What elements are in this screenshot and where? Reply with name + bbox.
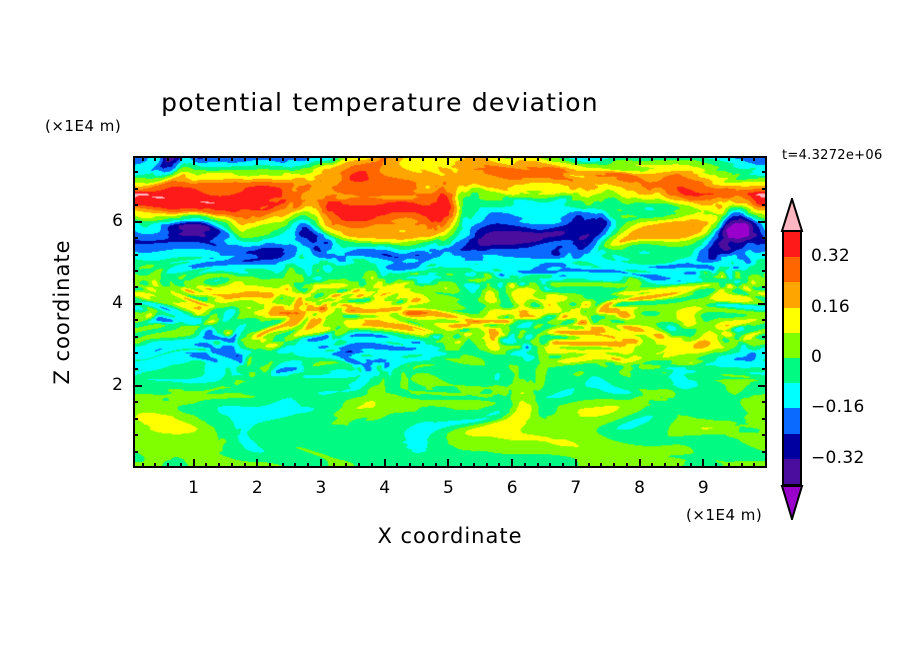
x-tick-minor bbox=[167, 156, 169, 161]
z-tick-minor bbox=[133, 286, 138, 288]
z-tick-major bbox=[133, 221, 142, 223]
x-tick-minor bbox=[358, 156, 360, 161]
contour-field-canvas bbox=[135, 158, 765, 466]
z-ticklabel: 4 bbox=[93, 293, 123, 313]
x-tick-minor bbox=[613, 463, 615, 468]
x-tick-minor bbox=[231, 156, 233, 161]
x-ticklabel: 5 bbox=[428, 478, 468, 498]
x-tick-minor bbox=[677, 156, 679, 161]
colorbar-band bbox=[782, 333, 802, 360]
z-tick-minor bbox=[133, 270, 138, 272]
x-tick-major bbox=[511, 156, 513, 165]
x-tick-minor bbox=[269, 463, 271, 468]
x-tick-minor bbox=[294, 156, 296, 161]
x-tick-minor bbox=[180, 463, 182, 468]
colorbar-ticklabel: −0.16 bbox=[811, 397, 865, 417]
x-tick-major bbox=[193, 459, 195, 468]
page-title: potential temperature deviation bbox=[0, 88, 760, 117]
x-tick-minor bbox=[498, 156, 500, 161]
colorbar-cap-under bbox=[779, 484, 805, 518]
x-tick-minor bbox=[154, 156, 156, 161]
x-tick-major bbox=[193, 156, 195, 165]
x-tick-minor bbox=[409, 156, 411, 161]
x-ticklabel: 2 bbox=[237, 478, 277, 498]
x-tick-minor bbox=[435, 463, 437, 468]
x-tick-major bbox=[384, 459, 386, 468]
x-tick-minor bbox=[307, 156, 309, 161]
z-tick-minor bbox=[133, 171, 138, 173]
x-tick-minor bbox=[486, 463, 488, 468]
z-tick-minor bbox=[762, 401, 767, 403]
x-tick-major bbox=[575, 459, 577, 468]
z-tick-minor bbox=[762, 336, 767, 338]
colorbar-band bbox=[782, 282, 802, 309]
x-tick-minor bbox=[142, 463, 144, 468]
x-tick-minor bbox=[167, 463, 169, 468]
x-tick-minor bbox=[753, 463, 755, 468]
z-tick-major bbox=[133, 303, 142, 305]
z-tick-minor bbox=[762, 204, 767, 206]
z-tick-minor bbox=[133, 352, 138, 354]
x-tick-minor bbox=[588, 463, 590, 468]
z-tick-minor bbox=[762, 171, 767, 173]
x-tick-major bbox=[702, 156, 704, 165]
z-tick-minor bbox=[762, 319, 767, 321]
x-tick-minor bbox=[422, 156, 424, 161]
timestamp-annotation: t=4.3272e+06 bbox=[782, 148, 883, 163]
x-tick-minor bbox=[562, 156, 564, 161]
x-tick-minor bbox=[231, 463, 233, 468]
x-tick-minor bbox=[333, 463, 335, 468]
colorbar: 0.320.160−0.16−0.32 bbox=[779, 198, 805, 518]
x-tick-minor bbox=[626, 463, 628, 468]
z-tick-minor bbox=[762, 270, 767, 272]
x-tick-minor bbox=[524, 156, 526, 161]
z-tick-major bbox=[758, 303, 767, 305]
colorbar-band bbox=[782, 358, 802, 385]
x-tick-minor bbox=[307, 463, 309, 468]
x-tick-minor bbox=[244, 156, 246, 161]
x-tick-minor bbox=[741, 156, 743, 161]
x-tick-major bbox=[447, 156, 449, 165]
x-tick-minor bbox=[154, 463, 156, 468]
x-ticklabel: 4 bbox=[365, 478, 405, 498]
x-tick-minor bbox=[741, 463, 743, 468]
x-tick-minor bbox=[562, 463, 564, 468]
x-tick-minor bbox=[498, 463, 500, 468]
x-tick-minor bbox=[626, 156, 628, 161]
colorbar-cap-over bbox=[779, 198, 805, 232]
x-tick-major bbox=[702, 459, 704, 468]
x-ticklabel: 7 bbox=[556, 478, 596, 498]
x-ticklabel: 9 bbox=[683, 478, 723, 498]
z-axis-title: Z coordinate bbox=[50, 212, 74, 412]
x-axis-units: (×1E4 m) bbox=[686, 506, 762, 524]
x-tick-minor bbox=[218, 463, 220, 468]
x-tick-major bbox=[639, 156, 641, 165]
x-tick-minor bbox=[537, 156, 539, 161]
colorbar-ticklabel: 0.16 bbox=[811, 297, 850, 317]
x-tick-major bbox=[384, 156, 386, 165]
x-tick-minor bbox=[690, 463, 692, 468]
x-tick-minor bbox=[715, 463, 717, 468]
colorbar-ticklabel: −0.32 bbox=[811, 448, 865, 468]
z-tick-minor bbox=[762, 418, 767, 420]
x-tick-minor bbox=[664, 463, 666, 468]
z-tick-minor bbox=[133, 434, 138, 436]
z-tick-minor bbox=[133, 451, 138, 453]
x-tick-minor bbox=[677, 463, 679, 468]
x-tick-minor bbox=[396, 463, 398, 468]
x-tick-minor bbox=[473, 156, 475, 161]
colorbar-ticklabel: 0 bbox=[811, 347, 822, 367]
z-tick-minor bbox=[133, 254, 138, 256]
z-tick-minor bbox=[762, 368, 767, 370]
x-tick-minor bbox=[715, 156, 717, 161]
x-tick-minor bbox=[613, 156, 615, 161]
x-tick-minor bbox=[664, 156, 666, 161]
z-tick-minor bbox=[762, 352, 767, 354]
z-tick-minor bbox=[762, 254, 767, 256]
x-tick-minor bbox=[486, 156, 488, 161]
x-tick-minor bbox=[218, 156, 220, 161]
x-tick-minor bbox=[753, 156, 755, 161]
x-tick-minor bbox=[728, 463, 730, 468]
figure-root: potential temperature deviation (×1E4 m)… bbox=[0, 0, 904, 654]
x-tick-major bbox=[320, 459, 322, 468]
x-axis-title: X coordinate bbox=[180, 524, 720, 548]
x-tick-major bbox=[639, 459, 641, 468]
x-tick-minor bbox=[460, 463, 462, 468]
colorbar-band bbox=[782, 257, 802, 284]
z-tick-minor bbox=[133, 336, 138, 338]
x-tick-minor bbox=[396, 156, 398, 161]
z-tick-minor bbox=[762, 237, 767, 239]
x-tick-major bbox=[511, 459, 513, 468]
x-tick-minor bbox=[333, 156, 335, 161]
x-tick-minor bbox=[371, 463, 373, 468]
x-tick-minor bbox=[588, 156, 590, 161]
x-tick-minor bbox=[142, 156, 144, 161]
x-tick-major bbox=[575, 156, 577, 165]
x-ticklabel: 3 bbox=[301, 478, 341, 498]
z-tick-minor bbox=[133, 204, 138, 206]
x-tick-major bbox=[256, 156, 258, 165]
x-tick-minor bbox=[244, 463, 246, 468]
x-tick-minor bbox=[282, 156, 284, 161]
colorbar-band bbox=[782, 308, 802, 335]
z-tick-major bbox=[758, 221, 767, 223]
z-tick-minor bbox=[133, 319, 138, 321]
x-tick-minor bbox=[371, 156, 373, 161]
x-tick-minor bbox=[690, 156, 692, 161]
x-tick-minor bbox=[282, 463, 284, 468]
colorbar-band bbox=[782, 383, 802, 410]
x-tick-major bbox=[256, 459, 258, 468]
z-tick-major bbox=[758, 385, 767, 387]
x-ticklabel: 8 bbox=[620, 478, 660, 498]
x-tick-minor bbox=[435, 156, 437, 161]
x-tick-minor bbox=[600, 463, 602, 468]
contour-plot-area bbox=[133, 156, 767, 468]
z-tick-minor bbox=[133, 237, 138, 239]
x-ticklabel: 6 bbox=[492, 478, 532, 498]
z-tick-minor bbox=[762, 286, 767, 288]
x-tick-minor bbox=[409, 463, 411, 468]
x-tick-major bbox=[447, 459, 449, 468]
x-tick-minor bbox=[549, 463, 551, 468]
colorbar-band bbox=[782, 434, 802, 461]
x-tick-minor bbox=[473, 463, 475, 468]
x-tick-minor bbox=[294, 463, 296, 468]
colorbar-band bbox=[782, 408, 802, 435]
z-tick-minor bbox=[133, 368, 138, 370]
x-tick-minor bbox=[358, 463, 360, 468]
z-tick-minor bbox=[762, 434, 767, 436]
z-ticklabel: 2 bbox=[93, 375, 123, 395]
x-tick-minor bbox=[180, 156, 182, 161]
colorbar-band bbox=[782, 459, 802, 486]
x-tick-minor bbox=[651, 463, 653, 468]
x-ticklabel: 1 bbox=[174, 478, 214, 498]
z-tick-minor bbox=[762, 451, 767, 453]
x-tick-minor bbox=[728, 156, 730, 161]
z-tick-minor bbox=[133, 188, 138, 190]
x-tick-minor bbox=[460, 156, 462, 161]
z-tick-minor bbox=[133, 401, 138, 403]
colorbar-ticklabel: 0.32 bbox=[811, 246, 850, 266]
z-axis-units: (×1E4 m) bbox=[45, 117, 121, 135]
x-tick-minor bbox=[524, 463, 526, 468]
z-tick-minor bbox=[762, 188, 767, 190]
x-tick-minor bbox=[205, 463, 207, 468]
x-tick-minor bbox=[549, 156, 551, 161]
z-ticklabel: 6 bbox=[93, 211, 123, 231]
x-tick-minor bbox=[537, 463, 539, 468]
x-tick-minor bbox=[345, 463, 347, 468]
x-tick-minor bbox=[205, 156, 207, 161]
x-tick-minor bbox=[600, 156, 602, 161]
z-tick-major bbox=[133, 385, 142, 387]
x-tick-minor bbox=[651, 156, 653, 161]
x-tick-minor bbox=[422, 463, 424, 468]
x-tick-minor bbox=[269, 156, 271, 161]
x-tick-major bbox=[320, 156, 322, 165]
x-tick-minor bbox=[345, 156, 347, 161]
z-tick-minor bbox=[133, 418, 138, 420]
colorbar-band bbox=[782, 232, 802, 259]
